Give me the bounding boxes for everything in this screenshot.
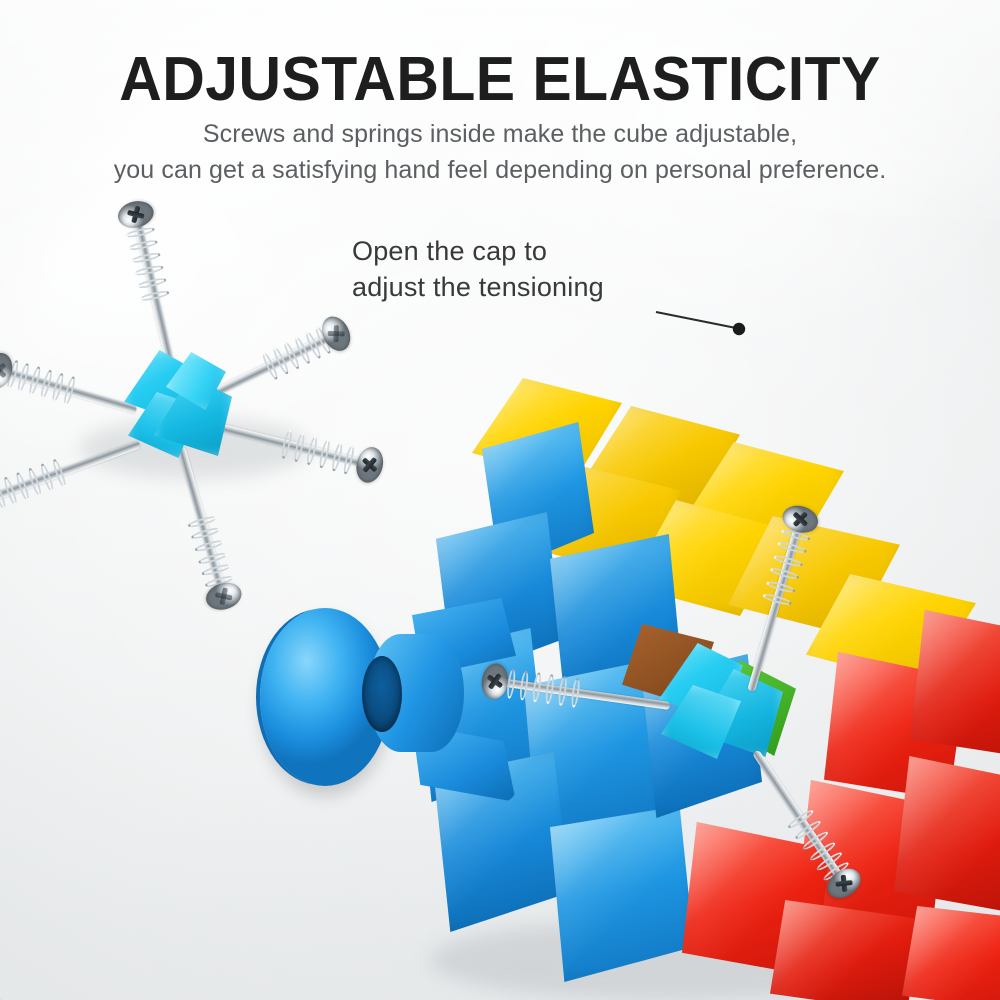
callout-line-2: adjust the tensioning [352,270,604,306]
subtitle-line-1: Screws and springs inside make the cube … [0,120,1000,149]
cube-tile [902,906,1000,1000]
page-title: ADJUSTABLE ELASTICITY [25,48,975,112]
spring-coil [122,216,170,303]
spring-coil [0,458,68,514]
blue-center-post [368,598,528,798]
core-hub [118,346,236,468]
subtitle-line-2: you can get a satisfying hand feel depen… [0,156,1000,185]
callout-leader-line [640,295,760,345]
disassembled-cube [250,360,1000,1000]
header-backdrop [0,0,1000,230]
callout-text: Open the cap to adjust the tensioning [352,234,604,305]
infographic-canvas: ADJUSTABLE ELASTICITY Screws and springs… [0,0,1000,1000]
callout-line-1: Open the cap to [352,234,604,270]
cap-socket [362,656,402,732]
